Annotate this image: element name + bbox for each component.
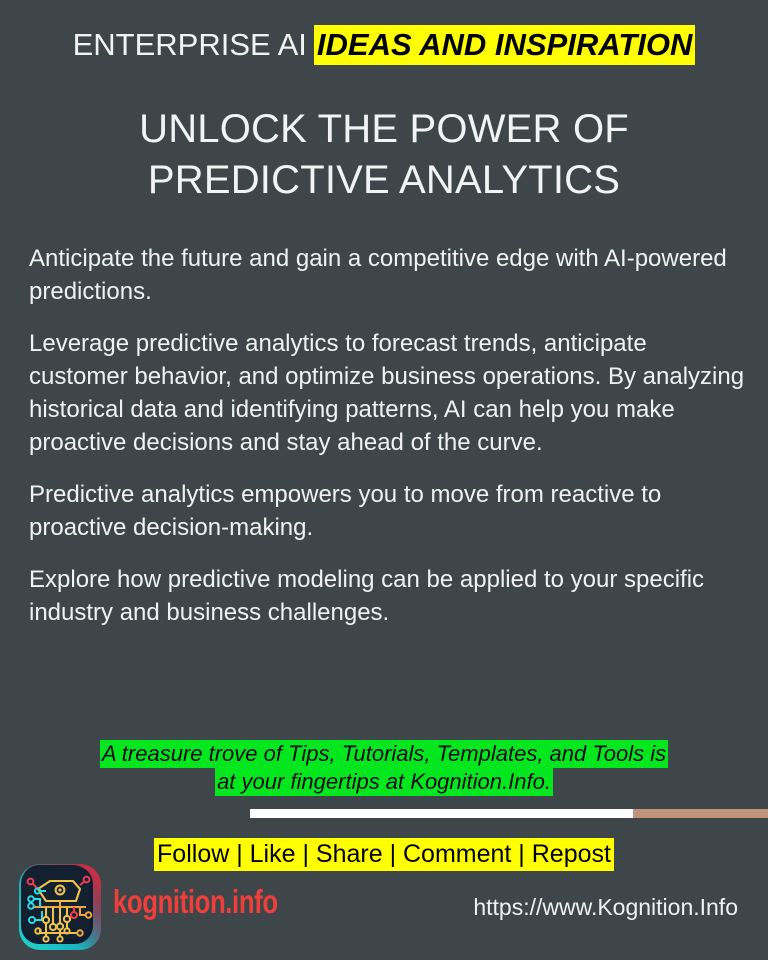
body-paragraph: Anticipate the future and gain a competi…	[29, 242, 751, 308]
body-copy: Anticipate the future and gain a competi…	[29, 242, 751, 629]
brand-wordmark: kognition.info	[113, 884, 278, 920]
site-url[interactable]: https://www.Kognition.Info	[473, 893, 738, 921]
body-paragraph: Explore how predictive modeling can be a…	[29, 563, 751, 629]
page-title: UNLOCK THE POWER OF PREDICTIVE ANALYTICS	[0, 104, 768, 206]
eyebrow-header: ENTERPRISE AIIDEAS AND INSPIRATION	[0, 26, 768, 64]
body-paragraph: Leverage predictive analytics to forecas…	[29, 327, 751, 459]
title-line-1: UNLOCK THE POWER OF	[0, 104, 768, 155]
callout-line-2-text: at your fingertips at Kognition.Info.	[215, 768, 553, 796]
circuit-board-pen-nib-icon	[16, 861, 104, 953]
eyebrow-highlight-text: IDEAS AND INSPIRATION	[314, 25, 695, 65]
divider-tan-segment	[633, 809, 768, 818]
promo-callout: A treasure trove of Tips, Tutorials, Tem…	[0, 740, 768, 796]
body-paragraph: Predictive analytics empowers you to mov…	[29, 478, 751, 544]
title-line-2: PREDICTIVE ANALYTICS	[0, 155, 768, 206]
call-to-action-bar[interactable]: Follow | Like | Share | Comment | Repost	[0, 838, 768, 871]
divider	[250, 809, 768, 818]
callout-line-2: at your fingertips at Kognition.Info.	[0, 768, 768, 796]
call-to-action-label[interactable]: Follow | Like | Share | Comment | Repost	[154, 838, 614, 871]
callout-line-1: A treasure trove of Tips, Tutorials, Tem…	[0, 740, 768, 768]
eyebrow-plain-text: ENTERPRISE AI	[73, 27, 307, 62]
callout-line-1-text: A treasure trove of Tips, Tutorials, Tem…	[100, 740, 668, 768]
divider-white-segment	[250, 809, 633, 818]
